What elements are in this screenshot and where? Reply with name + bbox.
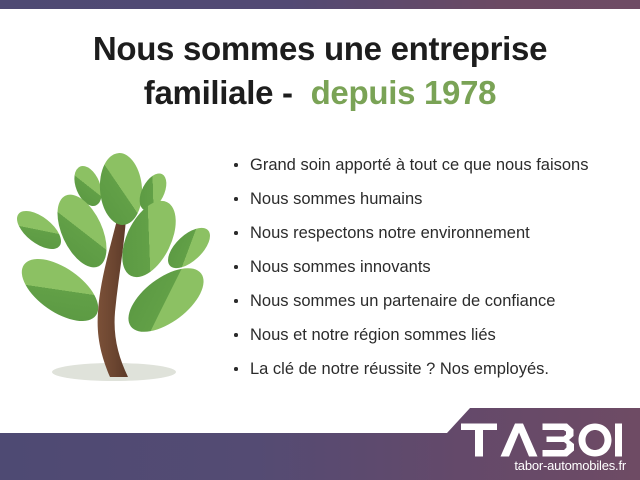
- bullet-dot-icon: [234, 299, 238, 303]
- footer-shape: [0, 408, 640, 480]
- list-item-label: Grand soin apporté à tout ce que nous fa…: [250, 156, 588, 174]
- list-item: Nous et notre région sommes liés: [232, 318, 632, 352]
- footer-banner: tabor-automobiles.fr: [0, 400, 640, 480]
- bullet-dot-icon: [234, 367, 238, 371]
- list-item: Nous sommes un partenaire de confiance: [232, 284, 632, 318]
- bullet-dot-icon: [234, 265, 238, 269]
- heading-line-1: Nous sommes une entreprise: [93, 30, 547, 67]
- list-item-label: Nous et notre région sommes liés: [250, 326, 496, 344]
- list-item: La clé de notre réussite ? Nos employés.: [232, 352, 632, 386]
- heading-line-2: familiale - depuis 1978: [0, 71, 640, 115]
- list-item-label: La clé de notre réussite ? Nos employés.: [250, 360, 549, 378]
- list-item: Grand soin apporté à tout ce que nous fa…: [232, 148, 632, 182]
- heading-accent-text: depuis 1978: [311, 74, 497, 111]
- slide-canvas: Nous sommes une entreprise familiale - d…: [0, 0, 640, 480]
- tree-illustration: [14, 152, 214, 390]
- value-list: Grand soin apporté à tout ce que nous fa…: [232, 148, 632, 386]
- page-title: Nous sommes une entreprise familiale - d…: [0, 27, 640, 115]
- bullet-dot-icon: [234, 231, 238, 235]
- list-item-label: Nous respectons notre environnement: [250, 224, 530, 242]
- heading-line-2-plain: familiale -: [144, 74, 302, 111]
- bullet-dot-icon: [234, 163, 238, 167]
- bullet-dot-icon: [234, 333, 238, 337]
- top-accent-bar: [0, 0, 640, 9]
- list-item: Nous respectons notre environnement: [232, 216, 632, 250]
- list-item: Nous sommes innovants: [232, 250, 632, 284]
- list-item: Nous sommes humains: [232, 182, 632, 216]
- bullet-dot-icon: [234, 197, 238, 201]
- list-item-label: Nous sommes humains: [250, 190, 422, 208]
- list-item-label: Nous sommes un partenaire de confiance: [250, 292, 555, 310]
- leaf: [98, 152, 145, 226]
- list-item-label: Nous sommes innovants: [250, 258, 431, 276]
